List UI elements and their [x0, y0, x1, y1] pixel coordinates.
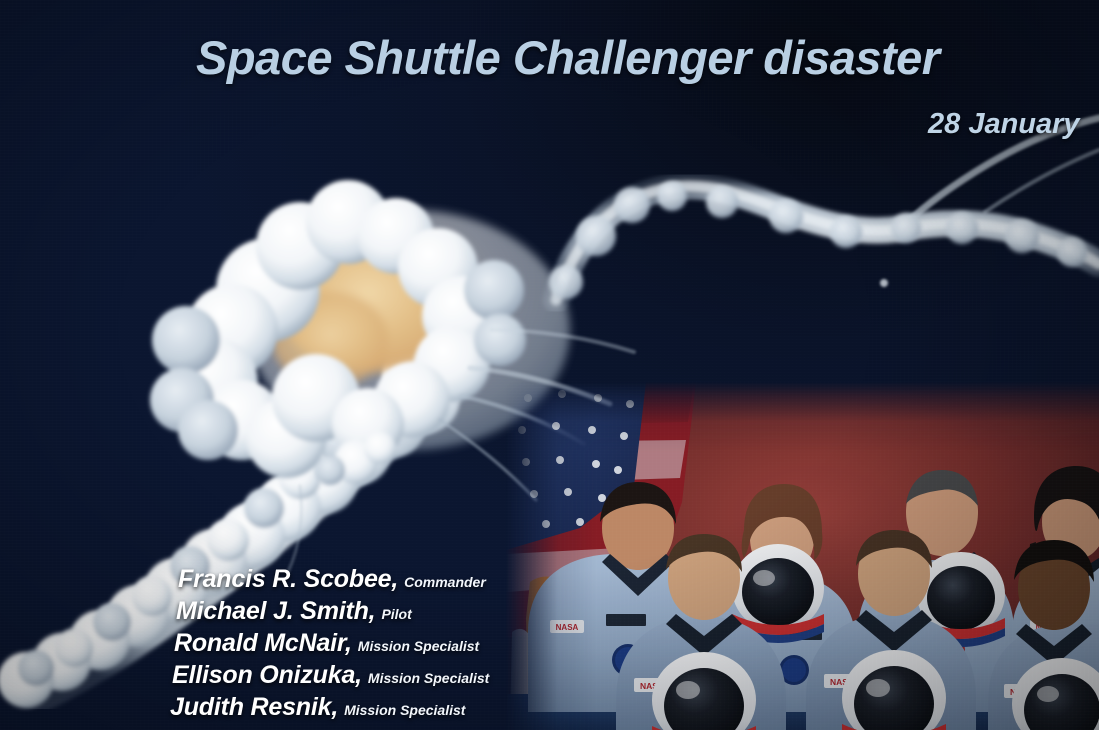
list-item: Judith Resnik,Mission Specialist — [170, 691, 489, 723]
crew-member-name: Michael J. Smith, — [176, 597, 375, 625]
crew-member-role: Mission Specialist — [358, 638, 479, 654]
crew-member-role: Pilot — [381, 606, 411, 622]
list-item: Ellison Onizuka,Mission Specialist — [170, 659, 489, 691]
crew-member-name: Francis R. Scobee, — [178, 565, 398, 593]
slide-canvas: NASA NASA — [0, 0, 1099, 730]
crew-member-name: Judith Resnik, — [170, 693, 338, 721]
list-item: Michael J. Smith,Pilot — [170, 595, 489, 627]
crew-list: Francis R. Scobee,Commander Michael J. S… — [170, 563, 489, 723]
crew-member-role: Mission Specialist — [344, 702, 465, 718]
crew-member-name: Ronald McNair, — [174, 629, 352, 657]
page-title: Space Shuttle Challenger disaster — [196, 30, 940, 85]
crew-member-role: Mission Specialist — [368, 670, 489, 686]
list-item: Ronald McNair,Mission Specialist — [170, 627, 489, 659]
crew-member-role: Commander — [404, 574, 486, 590]
crew-member-name: Ellison Onizuka, — [172, 661, 362, 689]
event-date: 28 January — [928, 108, 1080, 141]
list-item: Francis R. Scobee,Commander — [170, 563, 489, 595]
